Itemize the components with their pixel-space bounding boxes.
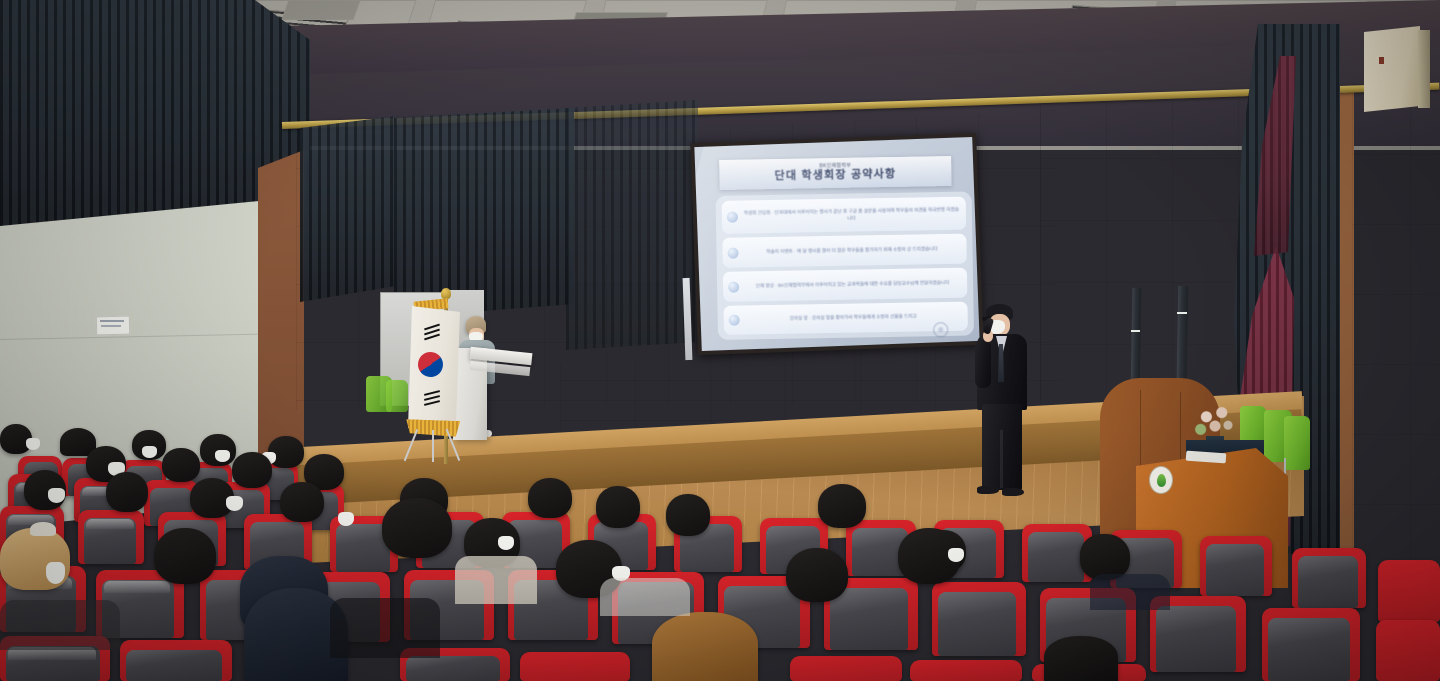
audience-shoulder bbox=[600, 578, 690, 616]
wall-notice-line bbox=[100, 320, 124, 322]
audience-head-front bbox=[652, 612, 758, 681]
audience-head bbox=[382, 498, 452, 558]
backstage-chair bbox=[386, 380, 408, 412]
audience-head bbox=[528, 478, 572, 518]
seat[interactable] bbox=[910, 660, 1022, 681]
audience-shoulder bbox=[1090, 574, 1170, 610]
seat[interactable] bbox=[790, 656, 902, 681]
seat-back bbox=[830, 588, 908, 650]
wall-speaker-bracket bbox=[1418, 30, 1430, 108]
audience-head bbox=[596, 486, 640, 528]
face-mask-icon bbox=[26, 438, 40, 450]
projection-screen: BK인제협력부 단대 학생회장 공약사항 학생회 간담회 · 단과대에서 이루어… bbox=[694, 137, 979, 351]
audience-shoulder bbox=[0, 600, 120, 650]
audience-shoulder bbox=[455, 556, 537, 604]
emblem-leaf-icon bbox=[1157, 474, 1166, 487]
presenter-shoe bbox=[977, 486, 999, 494]
seat-back bbox=[1206, 544, 1264, 596]
seat-gloss bbox=[86, 519, 134, 529]
presenter-tie bbox=[998, 344, 1004, 382]
seat-back bbox=[1298, 556, 1358, 608]
seat-back bbox=[406, 656, 500, 681]
wall-mounted-speaker bbox=[1364, 26, 1420, 112]
auditorium-photo: BK인제협력부 단대 학생회장 공약사항 학생회 간담회 · 단과대에서 이루어… bbox=[0, 0, 1440, 681]
seat-gloss bbox=[104, 581, 170, 593]
audience-head bbox=[154, 528, 216, 584]
seat-back bbox=[126, 650, 222, 681]
seat[interactable] bbox=[1376, 620, 1440, 681]
stage-curtain-panel-a bbox=[300, 116, 396, 302]
seat-back bbox=[1028, 532, 1084, 582]
audience-head bbox=[280, 482, 324, 522]
speaker-led-icon bbox=[1177, 312, 1187, 314]
presenter-leg-gap bbox=[1000, 430, 1003, 488]
face-mask-icon bbox=[48, 488, 65, 503]
face-mask-icon bbox=[226, 496, 243, 511]
audience-head bbox=[666, 494, 710, 536]
stage-curtain-panel-c bbox=[566, 100, 698, 350]
face-mask-icon bbox=[46, 562, 65, 584]
face-mask-icon bbox=[338, 512, 354, 526]
face-mask-icon bbox=[142, 446, 157, 458]
seat-back bbox=[1156, 606, 1236, 672]
presenter-arm bbox=[975, 340, 991, 388]
audience-shoulder bbox=[330, 598, 440, 658]
audience-head bbox=[162, 448, 200, 482]
seat-back bbox=[938, 592, 1016, 656]
taeguk-inner bbox=[418, 352, 443, 377]
audience-head bbox=[106, 472, 148, 512]
speaker-led-icon bbox=[1131, 330, 1140, 332]
flag-stand-leg bbox=[432, 430, 434, 462]
wall-speaker-badge bbox=[1379, 57, 1384, 64]
green-chair bbox=[1284, 416, 1310, 470]
stage-curtain-panel-b bbox=[394, 108, 574, 318]
audience-head-front bbox=[1044, 636, 1118, 681]
seat[interactable] bbox=[1378, 560, 1440, 622]
audience-head bbox=[786, 548, 848, 602]
face-mask-icon bbox=[948, 548, 964, 562]
audience-head bbox=[818, 484, 866, 528]
seat[interactable] bbox=[520, 652, 630, 681]
wall-notice-line bbox=[101, 325, 121, 327]
face-mask-icon bbox=[215, 450, 230, 462]
right-wall-panel bbox=[1352, 84, 1440, 564]
seat-back bbox=[1268, 618, 1350, 681]
ceiling-panel-dark bbox=[281, 0, 360, 20]
hair-accessory bbox=[30, 522, 56, 536]
audience-head bbox=[232, 452, 272, 488]
face-mask-icon bbox=[498, 536, 514, 550]
presenter-shoe bbox=[1002, 488, 1024, 496]
school-emblem-icon bbox=[1149, 466, 1173, 494]
